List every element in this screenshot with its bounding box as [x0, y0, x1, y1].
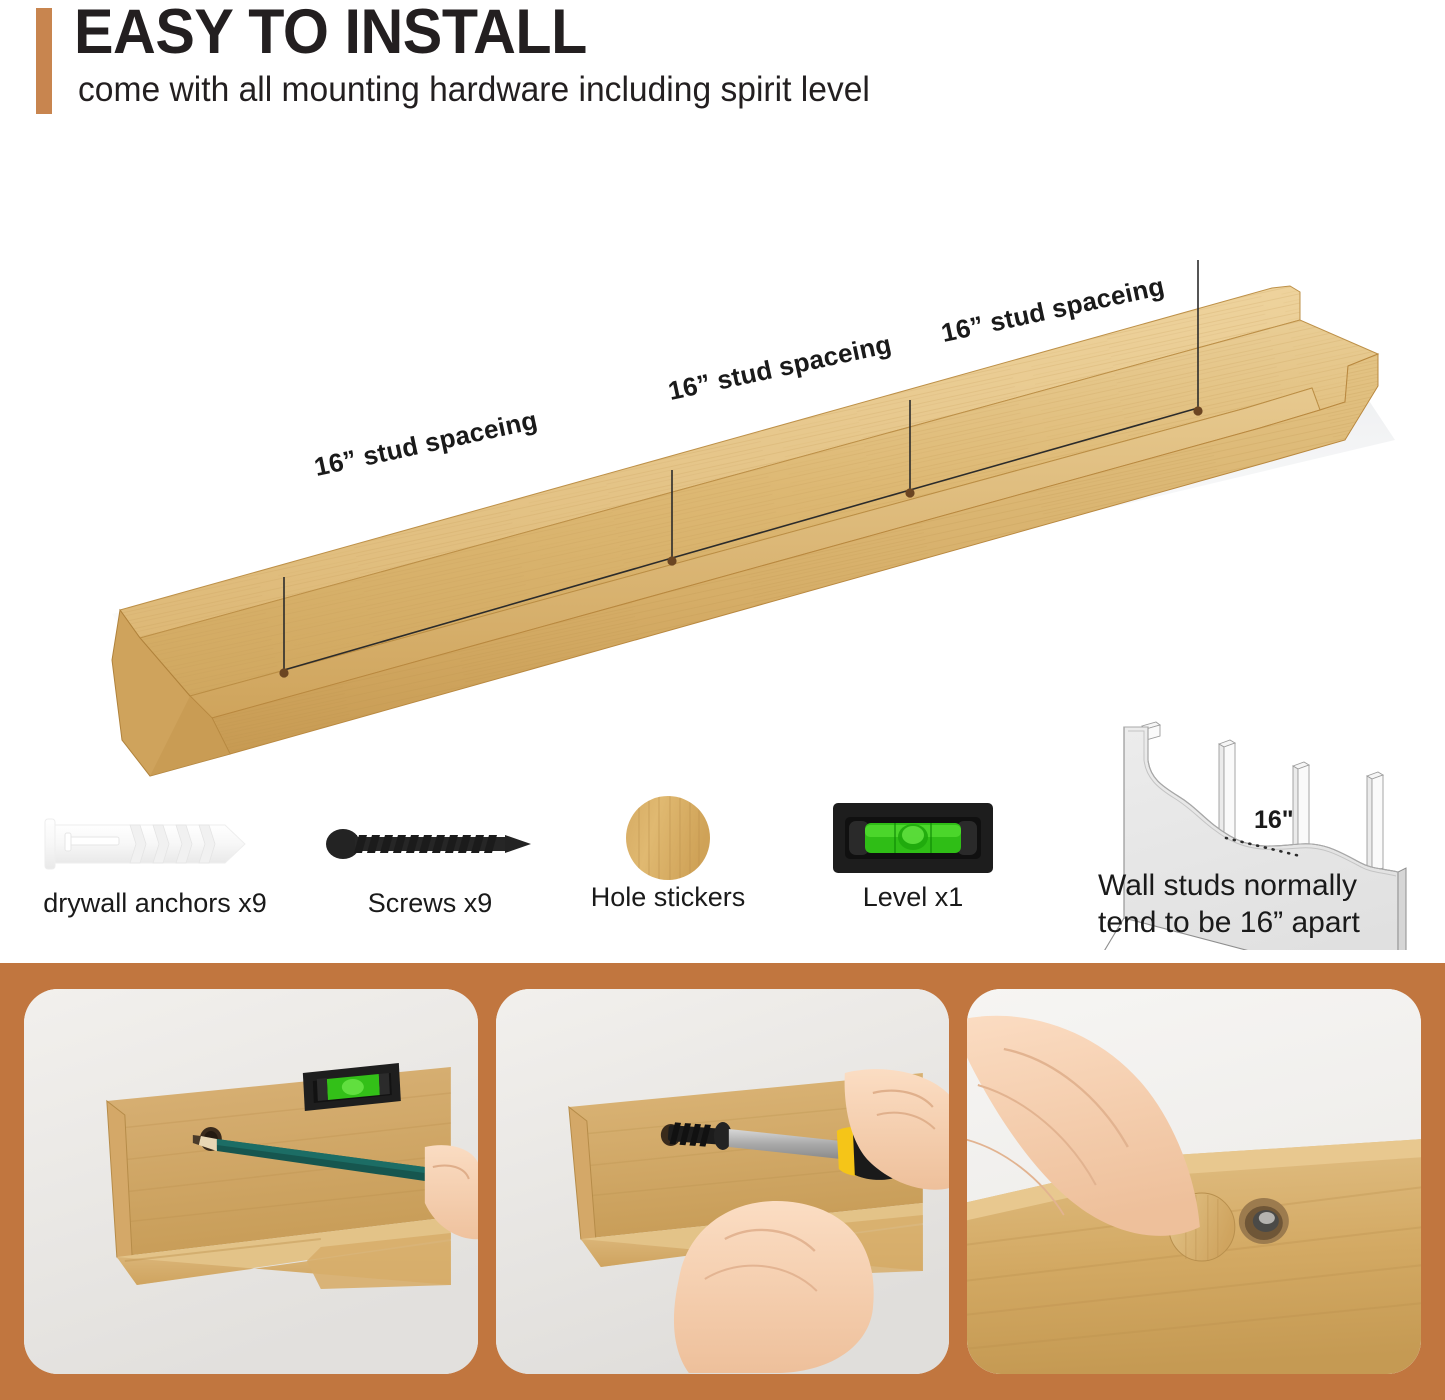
drywall-anchor-icon [35, 807, 275, 881]
screw-hole [1239, 1198, 1289, 1244]
hardware-item-drywall-anchors: drywall anchors x9 [0, 804, 310, 919]
wall-stud-caption-line2: tend to be 16” apart [1098, 905, 1438, 942]
spirit-level-icon [831, 799, 995, 877]
photo-drive-screws [496, 989, 950, 1374]
hardware-item-screws: Screws x9 [300, 804, 560, 919]
header: EASY TO INSTALL come with all mounting h… [0, 0, 1445, 140]
page-subtitle: come with all mounting hardware includin… [78, 70, 870, 110]
page-title: EASY TO INSTALL [74, 0, 587, 68]
product-infographic: EASY TO INSTALL come with all mounting h… [0, 0, 1445, 1400]
hardware-label-level: Level x1 [788, 882, 1038, 913]
photo-mark-holes [24, 989, 478, 1374]
hero-shelf-scene: 16” stud spaceing 16” stud spaceing 16” … [0, 140, 1445, 780]
hole-sticker-icon [623, 793, 713, 883]
hardware-label-drywall-anchors: drywall anchors x9 [0, 888, 310, 919]
screw-icon [319, 813, 541, 875]
included-hardware-list: drywall anchors x9 [0, 790, 1090, 940]
hardware-label-hole-stickers: Hole stickers [548, 882, 788, 913]
photo-apply-sticker [967, 989, 1421, 1374]
step-panel-apply-sticker [967, 989, 1421, 1374]
step-panel-drive-screws [496, 989, 950, 1374]
accent-bar [36, 8, 52, 114]
hardware-item-hole-stickers: Hole stickers [548, 798, 788, 913]
hardware-item-level: Level x1 [788, 798, 1038, 913]
step-panel-mark-holes [24, 989, 478, 1374]
stud-spacing-value: 16" [1254, 806, 1294, 834]
installation-steps-strip [0, 963, 1445, 1400]
shelf-illustration [0, 140, 1445, 780]
wall-stud-caption: Wall studs normally tend to be 16” apart [1098, 868, 1438, 941]
hardware-label-screws: Screws x9 [300, 888, 560, 919]
wall-stud-caption-line1: Wall studs normally [1098, 868, 1438, 905]
